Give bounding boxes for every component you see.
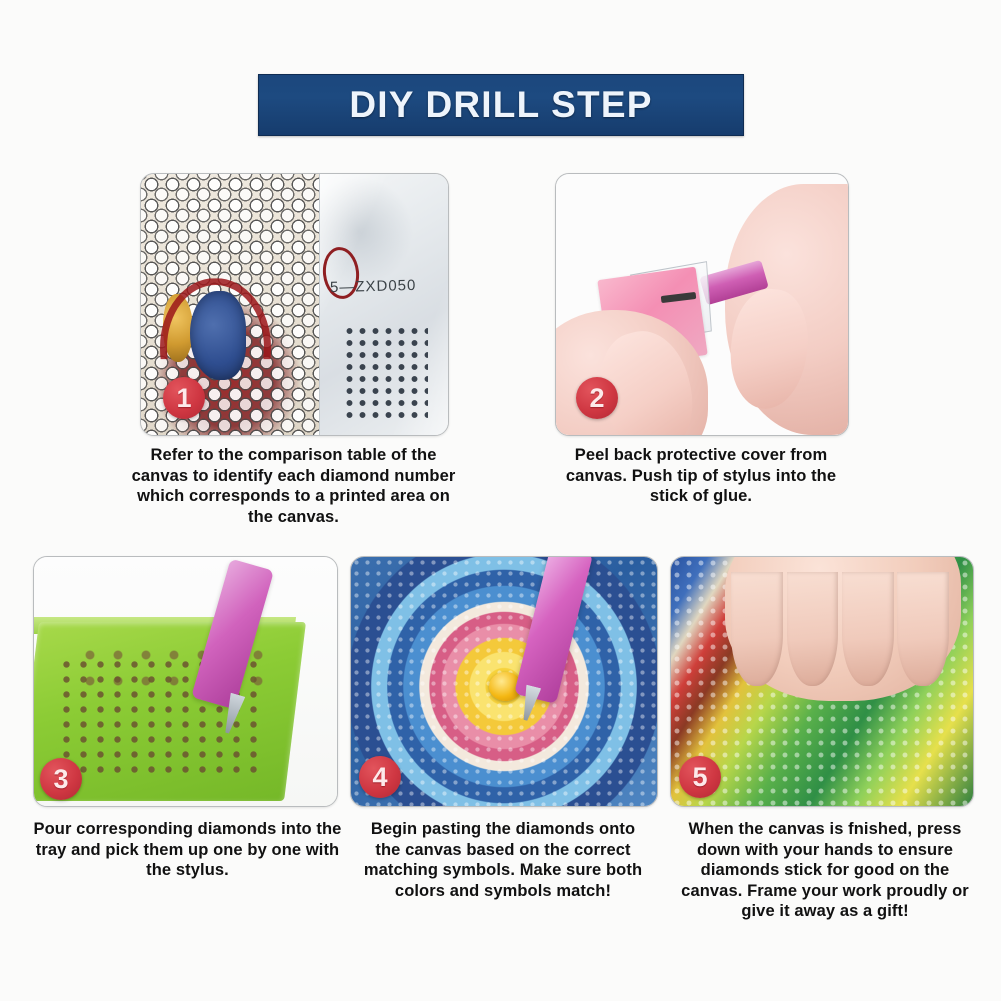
step-number-badge-4: 4 xyxy=(359,756,401,798)
step-number-2: 2 xyxy=(589,383,604,414)
step-2-photo: 2 xyxy=(555,173,849,436)
loose-diamonds xyxy=(343,325,428,419)
step-number-badge-2: 2 xyxy=(576,377,618,419)
step-number-badge-1: 1 xyxy=(163,377,205,419)
step-number-badge-3: 3 xyxy=(40,758,82,800)
step-1-caption: Refer to the comparison table of the can… xyxy=(128,445,459,527)
step-5-caption: When the canvas is fnished, press down w… xyxy=(680,819,970,922)
finger xyxy=(842,572,894,687)
step-3-caption: Pour corresponding diamonds into the tra… xyxy=(30,819,345,881)
step-4-photo: 4 xyxy=(350,556,658,807)
step-2-caption: Peel back protective cover from canvas. … xyxy=(547,445,855,507)
step-number-badge-5: 5 xyxy=(679,756,721,798)
step-1-photo: 5—ZXD050 1 xyxy=(140,173,449,436)
diamond-bag: 5—ZXD050 xyxy=(319,174,449,435)
step-number-3: 3 xyxy=(53,764,68,795)
step-3-photo: 3 xyxy=(33,556,338,807)
step-number-1: 1 xyxy=(176,383,191,414)
step-number-4: 4 xyxy=(372,762,387,793)
step-number-5: 5 xyxy=(692,762,707,793)
page-title: DIY DRILL STEP xyxy=(349,84,652,126)
finger xyxy=(897,572,949,687)
hand-fingers xyxy=(731,572,948,687)
finger xyxy=(787,572,839,687)
page-title-banner: DIY DRILL STEP xyxy=(258,74,744,136)
bag-label-text: 5—ZXD050 xyxy=(330,277,417,296)
finger xyxy=(731,572,783,687)
step-4-caption: Begin pasting the diamonds onto the canv… xyxy=(358,819,648,901)
step-5-photo: 5 xyxy=(670,556,974,807)
